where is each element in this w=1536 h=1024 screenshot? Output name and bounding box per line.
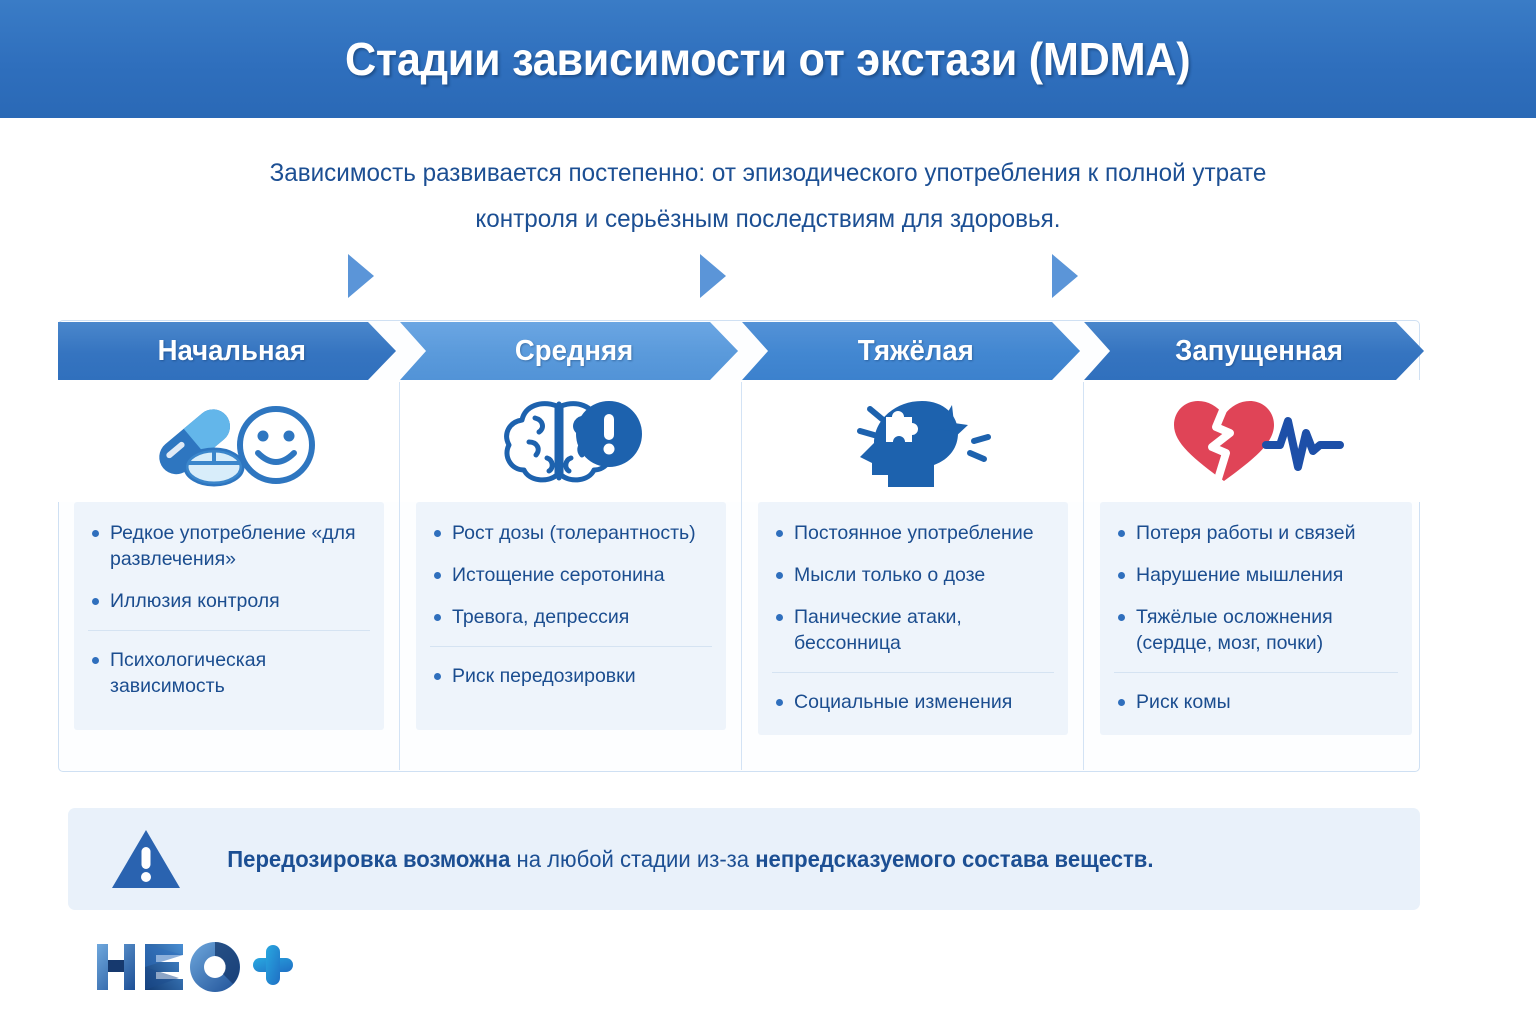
stage-icon-4 bbox=[1084, 380, 1428, 502]
stage-bullet-list-1: Редкое употребление «для развлечения» Ил… bbox=[88, 520, 370, 699]
list-item: Иллюзия контроля bbox=[88, 588, 370, 614]
stage-connector-arrow-2 bbox=[700, 254, 726, 298]
stage-header-2[interactable]: Средняя bbox=[400, 322, 738, 380]
subtitle-line-1: Зависимость развивается постепенно: от э… bbox=[23, 150, 1513, 196]
list-item: Истощение серотонина bbox=[430, 562, 712, 588]
stage-bullets-panel-3: Постоянное употребление Мысли только о д… bbox=[758, 502, 1068, 735]
stage-bullets-panel-2: Рост дозы (толерантность) Истощение серо… bbox=[416, 502, 726, 730]
pills-smiley-icon bbox=[139, 393, 319, 489]
stage-icon-3 bbox=[742, 380, 1084, 502]
stage-connector-arrow-1 bbox=[348, 254, 374, 298]
list-item: Риск комы bbox=[1114, 672, 1398, 715]
list-item: Тяжёлые осложнения (сердце, мозг, почки) bbox=[1114, 604, 1398, 656]
stage-card-4[interactable]: Запущенная Потеря работы и связей Наруше… bbox=[1084, 322, 1428, 770]
stage-icon-2 bbox=[400, 380, 742, 502]
stage-card-1[interactable]: Начальная Редкое упот bbox=[58, 322, 400, 770]
warning-banner: Передозировка возможна на любой стадии и… bbox=[68, 808, 1420, 910]
stage-header-3[interactable]: Тяжёлая bbox=[742, 322, 1080, 380]
warning-bold-end: непредсказуемого состава веществ. bbox=[755, 846, 1153, 872]
stage-bullets-panel-4: Потеря работы и связей Нарушение мышлени… bbox=[1100, 502, 1412, 735]
page-header: Стадии зависимости от экстази (MDMA) bbox=[0, 0, 1536, 118]
stage-bullets-panel-1: Редкое употребление «для развлечения» Ил… bbox=[74, 502, 384, 730]
stage-header-4[interactable]: Запущенная bbox=[1084, 322, 1424, 380]
stage-card-3[interactable]: Тяжёлая Постоянное употребление Мысли то… bbox=[742, 322, 1084, 770]
list-item: Рост дозы (толерантность) bbox=[430, 520, 712, 546]
stage-icon-1 bbox=[58, 380, 400, 502]
stage-label-4: Запущенная bbox=[1165, 335, 1342, 368]
stage-label-1: Начальная bbox=[148, 335, 306, 368]
stages-row: Начальная Редкое упот bbox=[58, 322, 1428, 770]
stage-label-3: Тяжёлая bbox=[848, 335, 973, 368]
stage-connector-arrow-3 bbox=[1052, 254, 1078, 298]
broken-heart-ecg-icon bbox=[1168, 393, 1344, 489]
neo-plus-logo-icon bbox=[93, 938, 293, 996]
warning-text: Передозировка возможна на любой стадии и… bbox=[227, 846, 1153, 873]
list-item: Потеря работы и связей bbox=[1114, 520, 1398, 546]
stage-header-1[interactable]: Начальная bbox=[58, 322, 396, 380]
list-item: Риск передозировки bbox=[430, 646, 712, 689]
warning-triangle-icon bbox=[110, 827, 182, 891]
list-item: Психологическая зависимость bbox=[88, 630, 370, 699]
stage-label-2: Средняя bbox=[505, 335, 633, 368]
warning-middle: на любой стадии из-за bbox=[510, 846, 755, 872]
brand-logo[interactable] bbox=[93, 938, 293, 996]
list-item: Нарушение мышления bbox=[1114, 562, 1398, 588]
head-puzzle-lightning-icon bbox=[834, 391, 992, 491]
page-title: Стадии зависимости от экстази (MDMA) bbox=[345, 32, 1190, 86]
list-item: Социальные изменения bbox=[772, 672, 1054, 715]
subtitle-block: Зависимость развивается постепенно: от э… bbox=[0, 150, 1536, 242]
list-item: Панические атаки, бессонница bbox=[772, 604, 1054, 656]
stage-bullet-list-2: Рост дозы (толерантность) Истощение серо… bbox=[430, 520, 712, 689]
subtitle-line-2: контроля и серьёзным последствиям для зд… bbox=[23, 196, 1513, 242]
stage-card-2[interactable]: Средняя bbox=[400, 322, 742, 770]
stage-bullet-list-3: Постоянное употребление Мысли только о д… bbox=[772, 520, 1054, 715]
stage-bullet-list-4: Потеря работы и связей Нарушение мышлени… bbox=[1114, 520, 1398, 715]
brain-alert-icon bbox=[491, 392, 651, 490]
list-item: Редкое употребление «для развлечения» bbox=[88, 520, 370, 572]
list-item: Мысли только о дозе bbox=[772, 562, 1054, 588]
list-item: Постоянное употребление bbox=[772, 520, 1054, 546]
list-item: Тревога, депрессия bbox=[430, 604, 712, 630]
warning-bold-start: Передозировка возможна bbox=[227, 846, 510, 872]
